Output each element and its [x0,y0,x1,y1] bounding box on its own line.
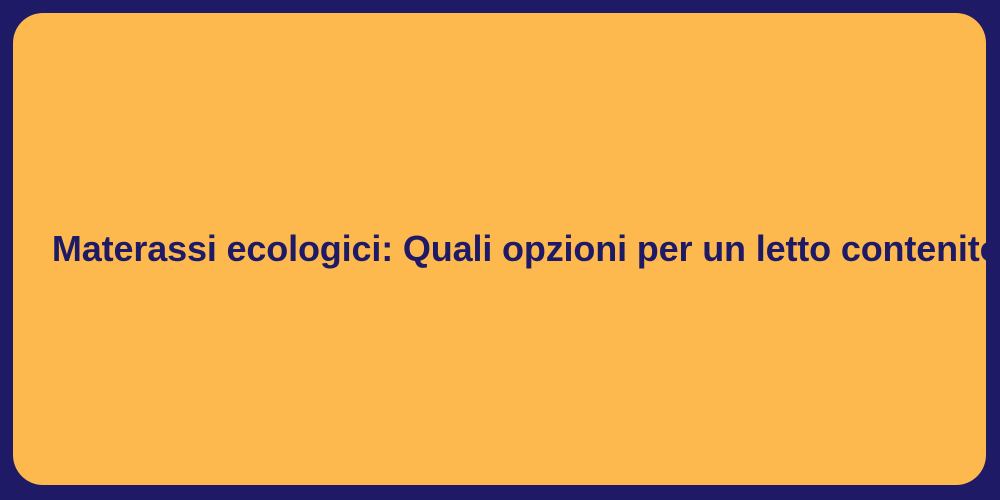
title-card-panel: Materassi ecologici: Quali opzioni per u… [13,13,986,485]
title-card-frame: Materassi ecologici: Quali opzioni per u… [0,0,1000,500]
page-title: Materassi ecologici: Quali opzioni per u… [52,228,947,270]
